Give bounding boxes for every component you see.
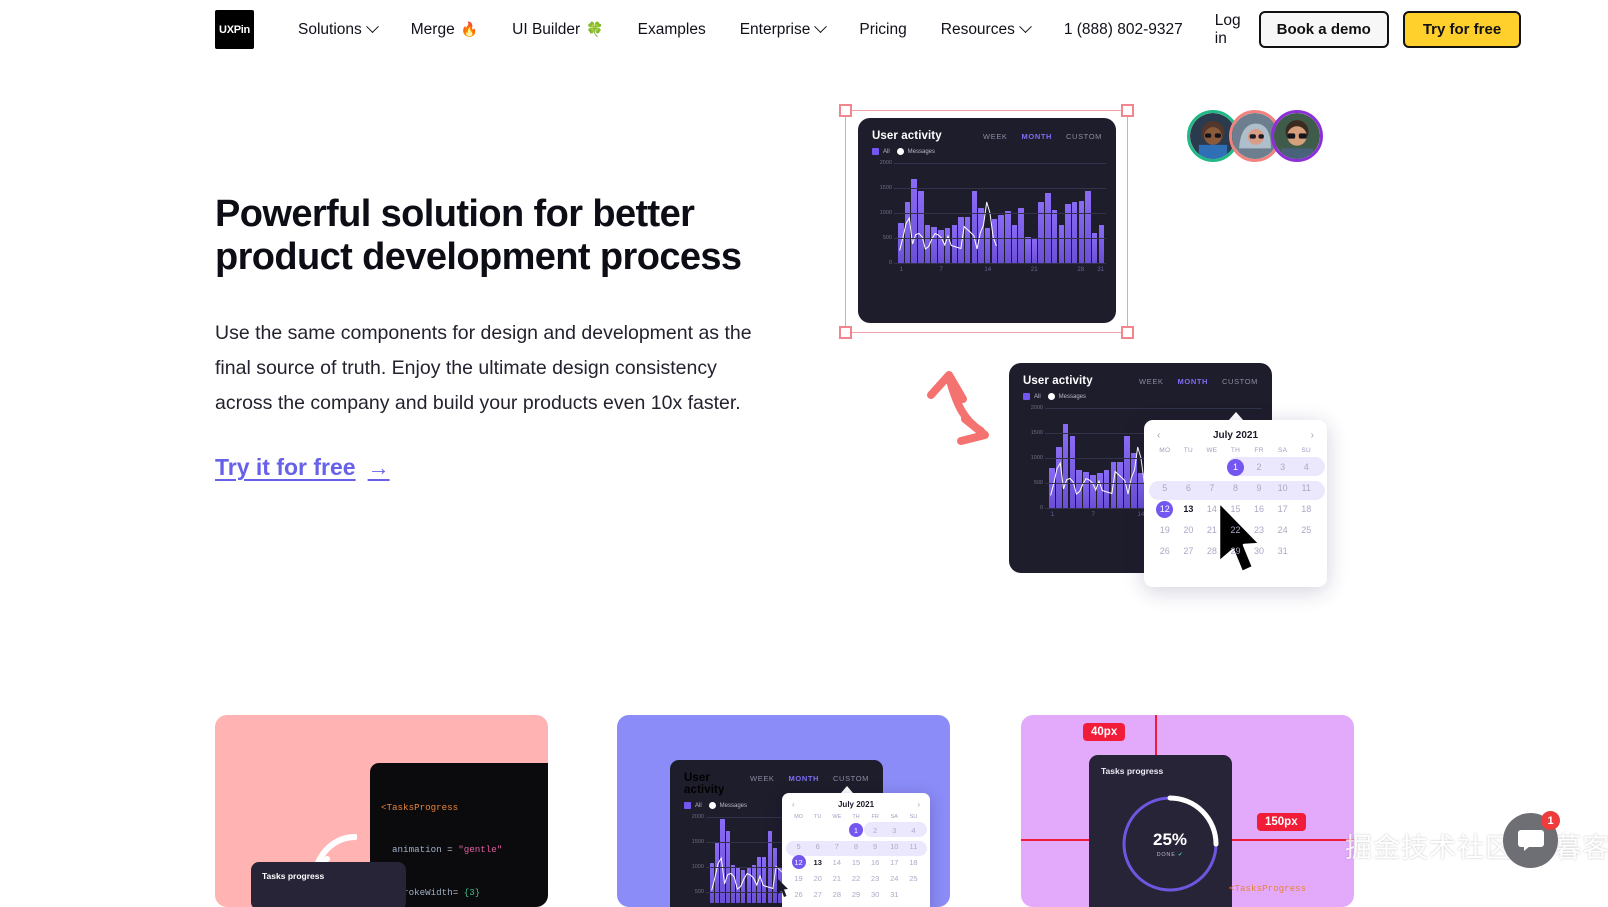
code-line: <TasksProgress (381, 801, 548, 815)
weekday-label: MO (1153, 447, 1177, 454)
code-tag: <TasksProgress (381, 802, 458, 813)
spec-badge-right: 150px (1257, 813, 1306, 831)
calendar-title: July 2021 (1213, 430, 1258, 441)
nav-right-group: 1 (888) 802-9327 Log in Book a demo Try … (1064, 11, 1521, 48)
calendar-day[interactable]: 12 (789, 854, 808, 870)
calendar-day[interactable]: 22 (846, 870, 865, 886)
chevron-down-icon (1019, 20, 1032, 33)
resize-handle-bottom-left[interactable] (839, 326, 852, 339)
weekday-header: MOTUWETHFRSASU (1153, 447, 1318, 454)
calendar-day-empty (808, 822, 827, 838)
progress-ring-label: 25% DONE ✔ (1115, 789, 1225, 899)
y-axis: 2000150010005000 (1019, 408, 1045, 508)
nav-item-solutions[interactable]: Solutions (298, 21, 377, 39)
legend-item-all: All (684, 802, 702, 809)
try-free-button[interactable]: Try for free (1403, 11, 1521, 48)
weekday-label: FR (866, 814, 885, 820)
mini-card-title: Tasks progress (262, 871, 324, 881)
chat-widget-button[interactable]: 1 (1503, 813, 1558, 868)
calendar-day[interactable]: 1 (1224, 457, 1248, 477)
code-snippet-partial: <TasksProgress animation = "gentle" stro… (1229, 853, 1350, 907)
calendar-day[interactable]: 10 (885, 838, 904, 854)
legend-square-icon (872, 148, 879, 155)
feature-card-specs: Tasks progress 25% DONE ✔ 40px 150px <Ta… (1021, 715, 1354, 907)
x-tick-label: 21 (1031, 267, 1038, 273)
resize-handle-bottom-right[interactable] (1121, 326, 1134, 339)
y-tick-label: 1500 (692, 839, 704, 845)
weekday-label: WE (827, 814, 846, 820)
nav-item-label: Resources (941, 21, 1015, 39)
calendar-day[interactable]: 19 (1153, 520, 1177, 540)
calendar-day[interactable]: 31 (885, 886, 904, 902)
card-header: User activity WEEK MONTH CUSTOM (858, 118, 1116, 142)
calendar-day-empty (789, 822, 808, 838)
calendar-day[interactable]: 7 (1200, 478, 1224, 498)
clover-icon: 🍀 (586, 21, 603, 38)
page-title: Powerful solution for better product dev… (215, 193, 775, 278)
next-month-icon[interactable]: › (1311, 430, 1314, 441)
legend-label: All (883, 149, 890, 155)
chart-bar (1099, 225, 1105, 263)
range-tabs: WEEK MONTH CUSTOM (750, 772, 869, 783)
calendar-day[interactable]: 17 (885, 854, 904, 870)
grid-line (894, 238, 1106, 239)
chart-bar (1052, 210, 1058, 263)
tab-custom[interactable]: CUSTOM (1066, 132, 1102, 141)
book-demo-button[interactable]: Book a demo (1259, 11, 1389, 48)
y-tick-label: 1500 (880, 185, 892, 191)
card-title: Tasks progress (1101, 766, 1220, 776)
calendar-day[interactable]: 31 (1271, 541, 1295, 561)
x-tick-label: 7 (940, 267, 943, 273)
prev-month-icon[interactable]: ‹ (792, 800, 795, 809)
weekday-label: WE (1200, 447, 1224, 454)
nav-item-merge[interactable]: Merge 🔥 (411, 21, 478, 39)
tab-week[interactable]: WEEK (750, 774, 775, 783)
chart-bar (1072, 202, 1078, 264)
grid-line (894, 213, 1106, 214)
weekday-label: TH (1224, 447, 1248, 454)
chart-bar (1085, 191, 1091, 264)
calendar-day[interactable]: 15 (846, 854, 865, 870)
y-axis: 2000150010005000 (868, 163, 894, 263)
top-navbar: UXPin Solutions Merge 🔥 UI Builder 🍀 Exa… (0, 0, 1608, 59)
calendar-day[interactable]: 20 (1177, 520, 1201, 540)
resize-handle-top-right[interactable] (1121, 104, 1134, 117)
legend-square-icon (1023, 393, 1030, 400)
weekday-label: FR (1247, 447, 1271, 454)
range-tabs: WEEK MONTH CUSTOM (983, 130, 1102, 141)
y-tick-label: 2000 (1031, 405, 1043, 411)
y-axis: 2000150010005000 (680, 817, 706, 907)
tab-week[interactable]: WEEK (983, 132, 1008, 141)
check-icon: ✔ (1178, 852, 1183, 858)
next-month-icon[interactable]: › (917, 800, 920, 809)
calendar-day[interactable]: 24 (1271, 520, 1295, 540)
fire-icon: 🔥 (461, 21, 478, 38)
x-tick-label: 7 (1092, 512, 1095, 518)
calendar-day[interactable]: 20 (808, 870, 827, 886)
weekday-label: SA (1271, 447, 1295, 454)
grid-line (894, 163, 1106, 164)
grid-line (894, 188, 1106, 189)
calendar-day[interactable]: 28 (827, 886, 846, 902)
card-title: User activity (684, 772, 750, 796)
chart-bar (1012, 225, 1018, 263)
calendar-grid: 1234567891011121314151617181920212223242… (1153, 457, 1318, 561)
chart-bar (1059, 225, 1065, 263)
calendar-day[interactable]: 5 (789, 838, 808, 854)
legend-item-all: All (1023, 393, 1041, 400)
y-tick-label: 500 (1034, 480, 1043, 486)
y-tick-label: 1000 (880, 210, 892, 216)
calendar-header: ‹ July 2021 › (1153, 428, 1318, 447)
calendar-day[interactable]: 9 (1247, 478, 1271, 498)
range-tabs: WEEK MONTH CUSTOM (1139, 375, 1258, 386)
legend-circle-icon (897, 148, 904, 155)
weekday-label: SA (885, 814, 904, 820)
y-tick-label: 0 (889, 260, 892, 266)
feature-card-calendar: User activity WEEK MONTH CUSTOM All Mess… (617, 715, 950, 907)
tasks-progress-card: Tasks progress 25% DONE ✔ (1089, 755, 1232, 907)
calendar-day[interactable]: 18 (1294, 499, 1318, 519)
legend-label: All (1034, 394, 1041, 400)
nav-item-examples[interactable]: Examples (638, 21, 706, 39)
calendar-day[interactable]: 2 (866, 822, 885, 838)
calendar-day[interactable]: 10 (1271, 478, 1295, 498)
x-tick-label: 1 (900, 267, 903, 273)
calendar-day[interactable]: 4 (904, 822, 923, 838)
calendar-day-empty (1200, 457, 1224, 477)
legend-item-messages: Messages (1048, 393, 1086, 400)
x-tick-label: 1 (1051, 512, 1054, 518)
calendar-day[interactable]: 3 (885, 822, 904, 838)
y-tick-label: 0 (1040, 505, 1043, 511)
calendar-pointer (841, 786, 853, 793)
nav-item-label: Solutions (298, 21, 362, 39)
nav-links: Solutions Merge 🔥 UI Builder 🍀 Examples … (298, 21, 1064, 39)
resize-handle-top-left[interactable] (839, 104, 852, 117)
calendar-day[interactable]: 14 (827, 854, 846, 870)
tasks-progress-mini-card: Tasks progress (251, 862, 406, 907)
code-line: strokeWidth= {3} (381, 886, 548, 900)
calendar-day[interactable]: 13 (808, 854, 827, 870)
grid-line (894, 263, 1106, 264)
x-tick-label: 14 (984, 267, 991, 273)
code-line: <TasksProgress (1229, 882, 1350, 896)
calendar-day[interactable]: 8 (1224, 478, 1248, 498)
legend-label: Messages (1059, 394, 1086, 400)
chat-unread-badge: 1 (1541, 811, 1560, 830)
calendar-day[interactable]: 17 (1271, 499, 1295, 519)
y-tick-label: 2000 (880, 160, 892, 166)
activity-chart: 2000150010005000 1714212831 (868, 163, 1106, 281)
avatar[interactable] (1271, 110, 1323, 162)
calendar-day[interactable]: 16 (866, 854, 885, 870)
calendar-day[interactable]: 27 (808, 886, 827, 902)
nav-item-label: UI Builder (512, 21, 580, 39)
calendar-day[interactable]: 2 (1247, 457, 1271, 477)
weekday-header: MOTUWETHFRSASU (789, 814, 923, 820)
calendar-day-empty (904, 886, 923, 902)
landing-page: UXPin Solutions Merge 🔥 UI Builder 🍀 Exa… (0, 0, 1608, 907)
progress-done-label: DONE ✔ (1157, 852, 1184, 858)
weekday-label: TU (808, 814, 827, 820)
legend-circle-icon (1048, 393, 1055, 400)
calendar-day[interactable]: 29 (846, 886, 865, 902)
tab-custom[interactable]: CUSTOM (1222, 377, 1258, 386)
calendar-day[interactable]: 4 (1294, 457, 1318, 477)
y-tick-label: 500 (695, 889, 704, 895)
arrow-right-icon: → (368, 455, 390, 481)
calendar-day[interactable]: 9 (866, 838, 885, 854)
code-line: animation = "gentle" (381, 843, 548, 857)
chart-line (900, 202, 997, 251)
card-title: User activity (1023, 375, 1093, 387)
calendar-day[interactable]: 23 (866, 870, 885, 886)
phone-number[interactable]: 1 (888) 802-9327 (1064, 21, 1183, 39)
x-tick-label: 28 (1077, 267, 1084, 273)
tab-month[interactable]: MONTH (1022, 132, 1053, 141)
prev-month-icon[interactable]: ‹ (1157, 430, 1160, 441)
card-header: User activity WEEK MONTH CUSTOM (1009, 363, 1272, 387)
chart-legend: All Messages (1009, 387, 1272, 400)
card-title: User activity (872, 130, 942, 142)
chart-bar (1045, 193, 1051, 263)
calendar-day[interactable]: 18 (904, 854, 923, 870)
x-axis: 1714212831 (898, 267, 1104, 281)
chevron-down-icon (814, 20, 827, 33)
calendar-day[interactable]: 26 (789, 886, 808, 902)
hero-text-block: Powerful solution for better product dev… (215, 193, 775, 481)
calendar-day-empty (827, 822, 846, 838)
chart-bar (1032, 239, 1038, 263)
progress-percent: 25% (1153, 830, 1187, 850)
calendar-day[interactable]: 30 (866, 886, 885, 902)
weekday-label: SU (1294, 447, 1318, 454)
chat-bubble-icon (1518, 830, 1544, 851)
calendar-day[interactable]: 1 (846, 822, 865, 838)
y-tick-label: 1000 (692, 864, 704, 870)
y-tick-label: 1500 (1031, 430, 1043, 436)
calendar-day[interactable]: 24 (885, 870, 904, 886)
nav-item-pricing[interactable]: Pricing (859, 21, 906, 39)
legend-label: Messages (908, 149, 935, 155)
calendar-day[interactable]: 5 (1153, 478, 1177, 498)
progress-ring: 25% DONE ✔ (1115, 789, 1225, 899)
nav-item-label: Examples (638, 21, 706, 39)
x-tick-label: 31 (1097, 267, 1104, 273)
calendar-day[interactable]: 6 (1177, 478, 1201, 498)
chart-legend: All Messages (858, 142, 1116, 155)
legend-item-messages: Messages (897, 148, 935, 155)
calendar-day[interactable]: 11 (1294, 478, 1318, 498)
user-activity-card-primary: User activity WEEK MONTH CUSTOM All Mess… (858, 118, 1116, 323)
calendar-day[interactable]: 25 (1294, 520, 1318, 540)
tab-custom[interactable]: CUSTOM (833, 774, 869, 783)
y-tick-label: 2000 (692, 814, 704, 820)
legend-label: All (695, 803, 702, 809)
calendar-day[interactable]: 8 (846, 838, 865, 854)
calendar-day-empty (1177, 457, 1201, 477)
legend-square-icon (684, 802, 691, 809)
tab-week[interactable]: WEEK (1139, 377, 1164, 386)
grid-line (1045, 408, 1262, 409)
calendar-day-empty (1294, 541, 1318, 561)
nav-item-enterprise[interactable]: Enterprise (740, 21, 826, 39)
uxpin-logo[interactable]: UXPin (215, 10, 254, 49)
nav-item-resources[interactable]: Resources (941, 21, 1030, 39)
nav-item-ui-builder[interactable]: UI Builder 🍀 (512, 21, 604, 39)
calendar-day[interactable]: 27 (1177, 541, 1201, 561)
legend-item-all: All (872, 148, 890, 155)
nav-item-label: Merge (411, 21, 455, 39)
chart-line (1051, 447, 1148, 496)
calendar-day[interactable]: 12 (1153, 499, 1177, 519)
calendar-grid: 1234567891011121314151617181920212223242… (789, 822, 923, 902)
y-tick-label: 1000 (1031, 455, 1043, 461)
cta-label: Try it for free (215, 454, 356, 481)
spec-badge-top: 40px (1083, 723, 1125, 741)
calendar-day[interactable]: 21 (827, 870, 846, 886)
calendar-header: ‹ July 2021 › (789, 799, 923, 814)
chart-bar (1005, 211, 1011, 264)
weekday-label: MO (789, 814, 808, 820)
nav-item-label: Enterprise (740, 21, 811, 39)
calendar-day[interactable]: 11 (904, 838, 923, 854)
hero-paragraph: Use the same components for design and d… (215, 316, 760, 420)
y-tick-label: 500 (883, 235, 892, 241)
weekday-label: SU (904, 814, 923, 820)
chart-bar (1038, 202, 1044, 263)
calendar-day[interactable]: 3 (1271, 457, 1295, 477)
calendar-day[interactable]: 19 (789, 870, 808, 886)
try-it-for-free-link[interactable]: Try it for free → (215, 454, 390, 481)
weekday-label: TH (846, 814, 865, 820)
calendar-day[interactable]: 25 (904, 870, 923, 886)
calendar-day[interactable]: 26 (1153, 541, 1177, 561)
mouse-cursor-icon (777, 878, 789, 898)
nav-item-label: Pricing (859, 21, 906, 39)
calendar-day[interactable]: 6 (808, 838, 827, 854)
chart-bar (1018, 208, 1024, 263)
watermark-text: 掘金技术社区 @ 暮客 (1345, 826, 1608, 865)
tab-month[interactable]: MONTH (789, 774, 820, 783)
chart-bar (1025, 237, 1031, 263)
chart-bar (1079, 201, 1085, 263)
date-picker-popover-mini: ‹ July 2021 › MOTUWETHFRSASU 12345678910… (782, 793, 930, 907)
weekday-label: TU (1177, 447, 1201, 454)
calendar-day[interactable]: 7 (827, 838, 846, 854)
feature-card-code: <TasksProgress animation = "gentle" stro… (215, 715, 548, 907)
tab-month[interactable]: MONTH (1178, 377, 1209, 386)
logo-text: UXPin (219, 24, 250, 36)
calendar-day[interactable]: 13 (1177, 499, 1201, 519)
chevron-down-icon (366, 20, 379, 33)
double-curved-arrow-icon (905, 355, 1005, 455)
login-link[interactable]: Log in (1215, 12, 1241, 48)
calendar-title: July 2021 (838, 800, 874, 809)
calendar-day-empty (1153, 457, 1177, 477)
